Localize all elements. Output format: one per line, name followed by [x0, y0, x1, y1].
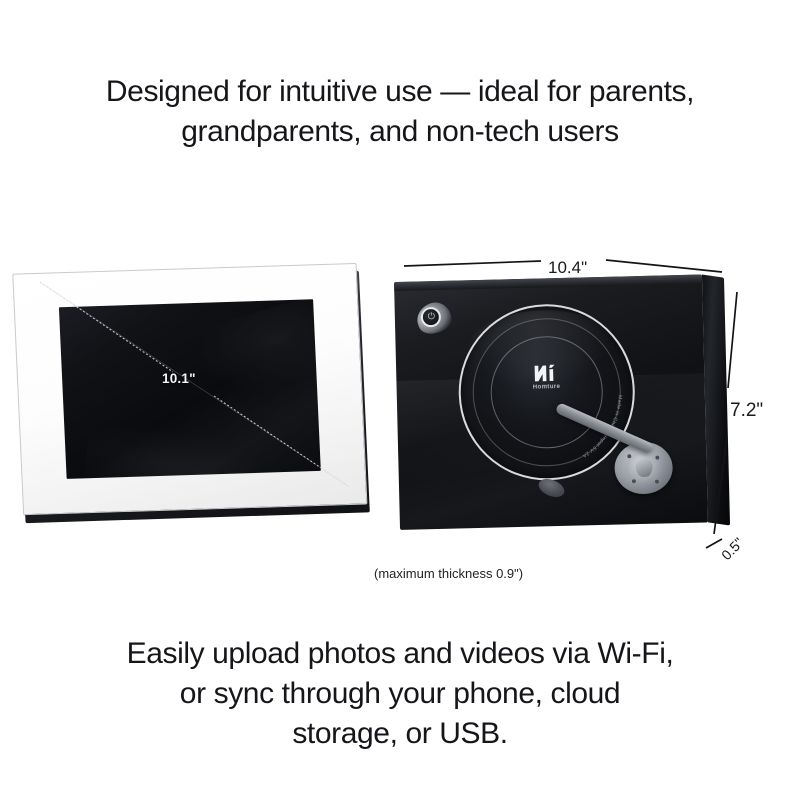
headline-text: Designed for intuitive use — ideal for p… [0, 72, 800, 151]
stand-hub [635, 458, 652, 477]
footer-line-1: Easily upload photos and videos via Wi-F… [0, 634, 800, 674]
power-icon: ⏻ [427, 312, 436, 321]
headline-line-2: grandparents, and non-tech users [0, 112, 800, 152]
dimension-width-label: 10.4" [548, 258, 587, 278]
footer-text: Easily upload photos and videos via Wi-F… [0, 634, 800, 755]
stand-screw [632, 479, 636, 483]
screen-diagonal-label: 10.1" [162, 371, 196, 386]
brand-logo: Homture [513, 364, 580, 392]
headline-line-1: Designed for intuitive use — ideal for p… [0, 72, 800, 112]
maximum-thickness-note: (maximum thickness 0.9") [374, 566, 523, 581]
power-button[interactable]: ⏻ [417, 303, 452, 334]
dimension-height-label: 7.2" [730, 400, 763, 422]
front-view-photo-frame [18, 268, 378, 544]
stand-screw [655, 480, 659, 484]
product-feature-graphic: Designed for intuitive use — ideal for p… [0, 0, 800, 800]
stand-screw [627, 454, 631, 458]
footer-line-2: or sync through your phone, cloud [0, 674, 800, 714]
stand-screw [655, 456, 659, 460]
front-frame-bezel [12, 263, 367, 515]
brand-mark-icon [533, 364, 559, 383]
footer-line-3: storage, or USB. [0, 714, 800, 754]
front-frame-body [12, 263, 371, 521]
back-view-photo-frame: ⏻ Made in China · Input 5V 2A [382, 248, 782, 588]
front-frame-screen [59, 299, 321, 479]
back-speaker-disc: Made in China · Input 5V 2A Homture [457, 302, 637, 482]
